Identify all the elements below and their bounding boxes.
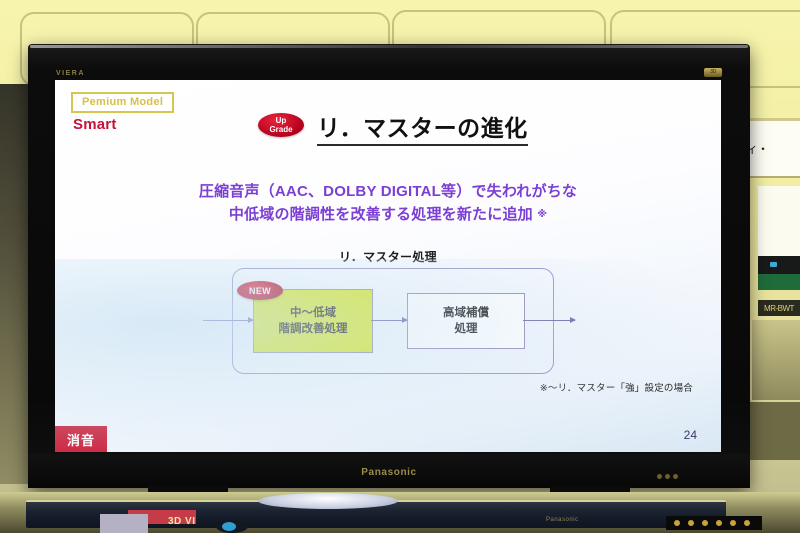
equipment-knob-inner — [222, 522, 236, 531]
tv-bezel-glint — [30, 45, 748, 48]
arrow-middle — [371, 320, 407, 321]
jack-5-icon — [730, 520, 736, 526]
subtitle-line-2-wrap: 中低域の階調性を改善する処理を新たに追加 ※ — [55, 203, 721, 226]
tv-logo-panasonic: Panasonic — [361, 467, 416, 478]
optical-disc — [258, 493, 398, 509]
background-shelf-upper — [752, 320, 800, 400]
player-av-jacks — [666, 516, 762, 530]
tv-emblem-3d-icon: 3D — [704, 68, 722, 77]
photo-scene: ィ・ MR-BWT VIERA 3D Pemium Model Smart Up… — [0, 0, 800, 533]
background-product-label: MR-BWT — [758, 300, 800, 316]
jack-3-icon — [702, 520, 708, 526]
smart-label: Smart — [73, 116, 117, 133]
background-indicator-dot — [770, 262, 777, 267]
new-badge: NEW — [237, 281, 283, 300]
block-high-compensation: 高域補償 処理 — [407, 293, 525, 349]
player-brand-label: Panasonic — [546, 517, 579, 523]
premium-model-badge: Pemium Model — [71, 92, 174, 113]
jack-4-icon — [716, 520, 722, 526]
jack-2-icon — [688, 520, 694, 526]
gray-display-box — [100, 514, 148, 533]
tv-bottom-bezel: Panasonic — [28, 454, 750, 488]
upgrade-badge-line1: Up — [276, 116, 287, 125]
block-new-line1: 中～低域 — [290, 305, 336, 321]
subtitle-line-2: 中低域の階調性を改善する処理を新たに追加 — [229, 206, 533, 223]
upgrade-badge-line2: Grade — [269, 125, 292, 134]
jack-1-icon — [674, 520, 680, 526]
background-shelf-lower — [746, 402, 800, 460]
page-number: 24 — [684, 428, 697, 442]
diagram-title: リ．マスター処理 — [55, 248, 721, 265]
label-3dvi: 3D VI — [168, 516, 196, 527]
upgrade-badge: Up Grade — [258, 113, 304, 137]
background-panel-green — [758, 274, 800, 290]
block-new-line2: 階調改善処理 — [279, 321, 348, 337]
tv-brand-viera: VIERA — [56, 70, 85, 77]
mute-badge: 消音 — [55, 426, 107, 452]
tv-screen: Pemium Model Smart Up Grade リ．マスターの進化 圧縮… — [55, 80, 721, 452]
tv-indicator-lights — [657, 474, 662, 479]
block-high-line2: 処理 — [455, 321, 478, 337]
background-panel-white — [758, 186, 800, 258]
slide-subtitle: 圧縮音声（AAC、DOLBY DIGITAL等）で失われがちな 中低域の階調性を… — [55, 180, 721, 226]
slide-title: リ．マスターの進化 — [317, 109, 528, 146]
background-panel-dark — [758, 256, 800, 274]
slide-footnote: ※～リ．マスター「強」設定の場合 — [540, 380, 693, 394]
arrow-output — [523, 320, 575, 321]
subtitle-footnote-mark: ※ — [537, 209, 547, 220]
av-equipment-shelf: Panasonic 3D VI — [0, 492, 800, 533]
block-high-line1: 高域補償 — [443, 305, 489, 321]
background-signage: ィ・ — [744, 118, 800, 178]
block-diagram: リ．マスター処理 中～低域 階調改善処理 NEW 高域補償 処理 — [55, 248, 721, 388]
television: VIERA 3D Pemium Model Smart Up Grade リ．マ… — [28, 44, 750, 488]
subtitle-line-1: 圧縮音声（AAC、DOLBY DIGITAL等）で失われがちな — [55, 180, 721, 203]
jack-6-icon — [744, 520, 750, 526]
arrow-input — [203, 320, 253, 321]
